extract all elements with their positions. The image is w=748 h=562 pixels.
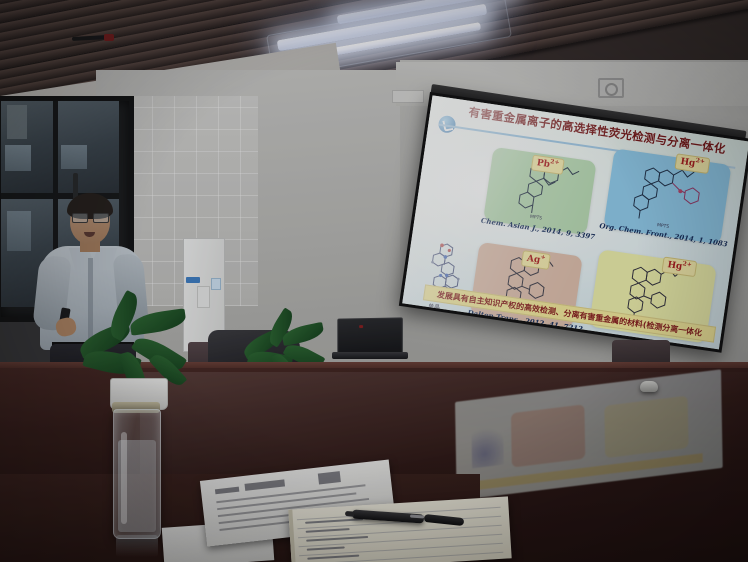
paper-heading-block (215, 487, 239, 495)
computer-mouse[interactable] (640, 381, 658, 392)
foreground-potted-plant (78, 300, 198, 410)
reflected-panel (604, 396, 688, 459)
paper-heading-block (244, 479, 285, 490)
window-reflection (5, 145, 31, 171)
presentation-slide: 有害重金属离子的高选择性荧光检测与分离一体化 (402, 95, 748, 349)
handwriting-line (306, 528, 350, 533)
wall-ac-vent-icon (598, 78, 624, 98)
laptop-base (332, 352, 408, 359)
plant-leaf (129, 308, 187, 336)
glass-water-tumbler[interactable] (113, 409, 161, 539)
cabinet-badge (186, 277, 200, 283)
handwriting-line (307, 555, 359, 560)
outside-building (7, 105, 27, 139)
reflected-crystal (471, 420, 504, 468)
tumbler-highlight (121, 432, 127, 524)
glasses-icon (72, 213, 109, 221)
pen-clip (410, 515, 424, 519)
crystal-label: 单晶 (428, 301, 441, 312)
pen-tip (345, 511, 354, 517)
laptop-plug (104, 34, 114, 41)
ceiling-vent (392, 90, 424, 103)
paper-image-block (318, 471, 341, 484)
window-reflection (7, 211, 31, 251)
laptop-logo-icon (359, 325, 363, 328)
handwriting-line (307, 546, 345, 550)
laptop[interactable] (332, 318, 406, 360)
laptop-screen (337, 317, 403, 356)
window-reflection (61, 145, 87, 169)
reflected-panel (511, 404, 585, 467)
tumbler-reflection (116, 535, 158, 557)
cabinet-control-panel[interactable] (197, 286, 210, 308)
conference-room-photo: 有害重金属离子的高选择性荧光检测与分离一体化 (0, 0, 748, 562)
cabinet-sticker (211, 278, 221, 290)
